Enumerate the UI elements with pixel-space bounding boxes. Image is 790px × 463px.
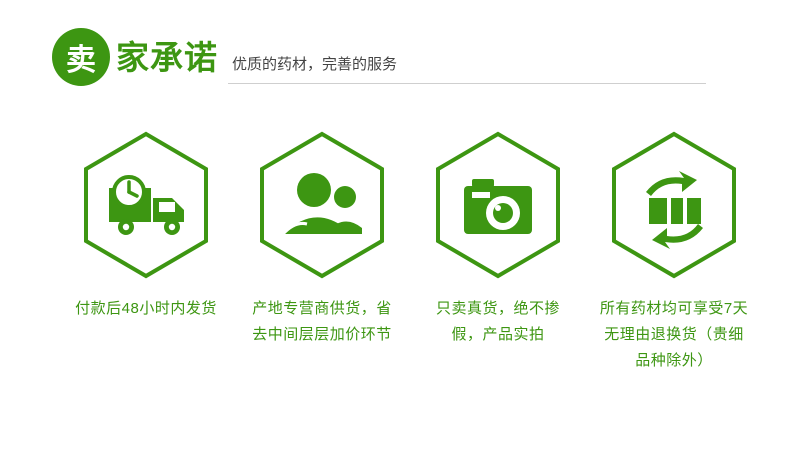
- header-divider: [228, 83, 706, 84]
- hex-icon-container-1: [80, 130, 212, 280]
- promise-item-returns: 所有药材均可享受7天无理由退换货（贵细品种除外）: [586, 130, 762, 374]
- delivery-truck-clock-icon: [80, 130, 212, 280]
- page-subtitle: 优质的药材，完善的服务: [232, 57, 397, 74]
- people-supplier-icon: [256, 130, 388, 280]
- seller-badge: 卖: [52, 28, 110, 86]
- header: 卖 家承诺 优质的药材，完善的服务: [52, 28, 397, 86]
- promise-caption: 产地专营商供货，省去中间层层加价环节: [247, 296, 397, 348]
- promise-caption: 付款后48小时内发货: [71, 296, 221, 322]
- camera-icon: [432, 130, 564, 280]
- hex-icon-container-2: [256, 130, 388, 280]
- promise-caption: 所有药材均可享受7天无理由退换货（贵细品种除外）: [599, 296, 749, 374]
- promise-items: 付款后48小时内发货 产地专营商供货，省去中间层层加价环节: [0, 130, 790, 374]
- promise-item-real-photo: 只卖真货，绝不掺假，产品实拍: [410, 130, 586, 374]
- return-exchange-arrows-icon: [608, 130, 740, 280]
- hex-icon-container-4: [608, 130, 740, 280]
- promise-item-shipping: 付款后48小时内发货: [58, 130, 234, 374]
- hex-icon-container-3: [432, 130, 564, 280]
- page-title: 家承诺: [116, 41, 218, 74]
- seller-promise-banner: 卖 家承诺 优质的药材，完善的服务: [0, 0, 790, 463]
- promise-caption: 只卖真货，绝不掺假，产品实拍: [423, 296, 573, 348]
- promise-item-supplier: 产地专营商供货，省去中间层层加价环节: [234, 130, 410, 374]
